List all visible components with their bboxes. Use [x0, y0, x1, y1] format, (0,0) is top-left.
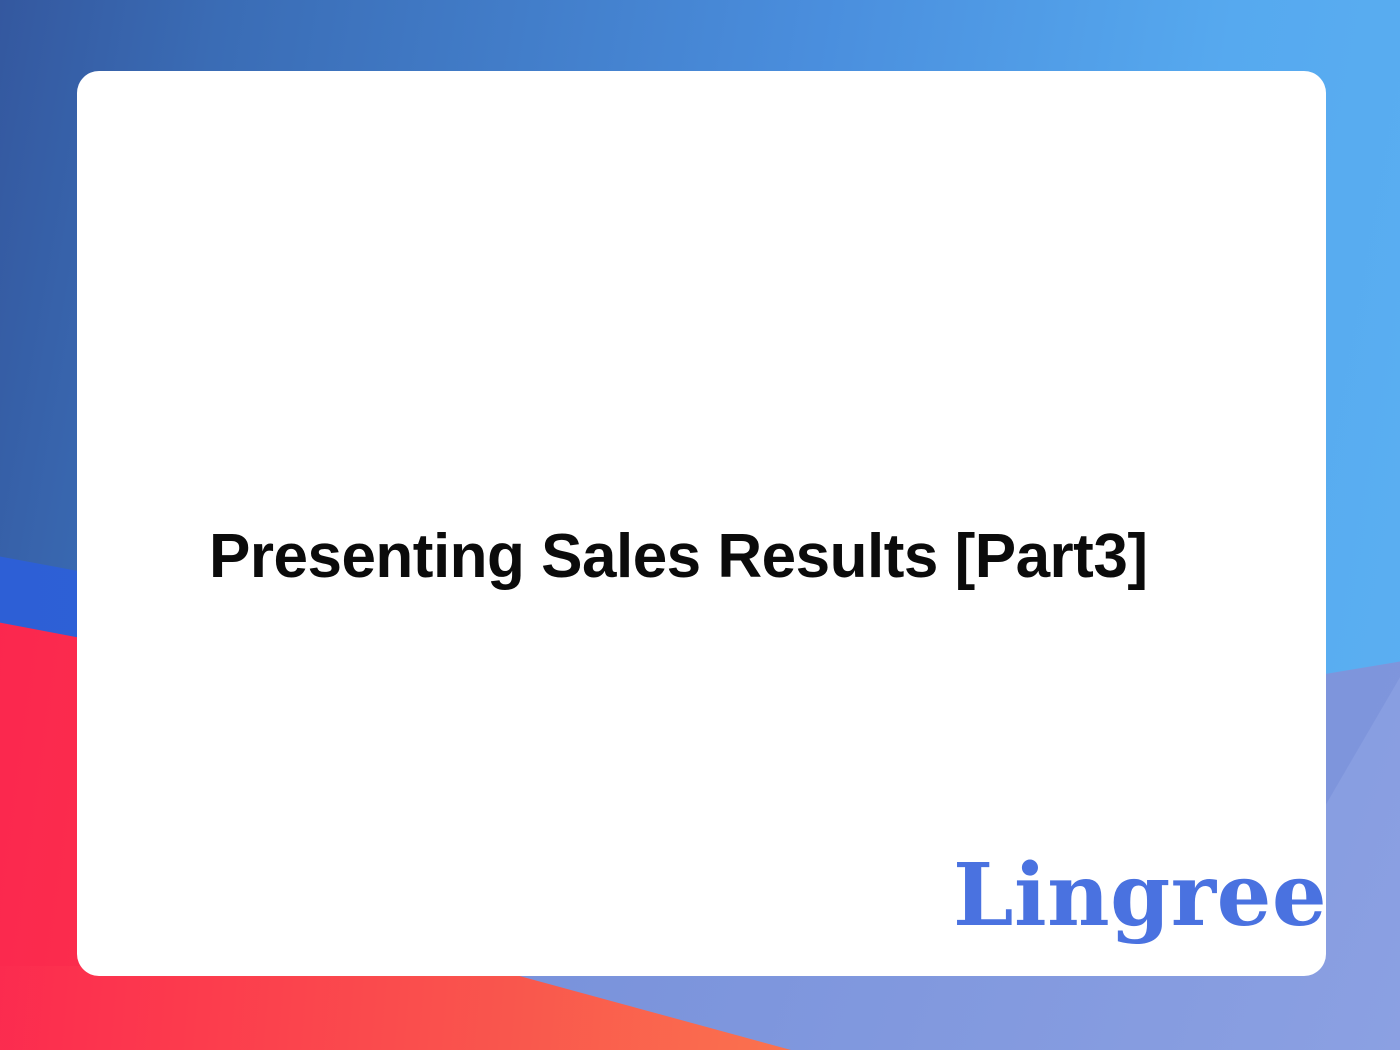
slide-content-card: Presenting Sales Results [Part3] Lingree	[77, 71, 1326, 976]
slide-title: Presenting Sales Results [Part3]	[209, 522, 1209, 591]
brand-logo: Lingree	[953, 853, 1327, 939]
presentation-slide: Presenting Sales Results [Part3] Lingree	[0, 0, 1400, 1050]
